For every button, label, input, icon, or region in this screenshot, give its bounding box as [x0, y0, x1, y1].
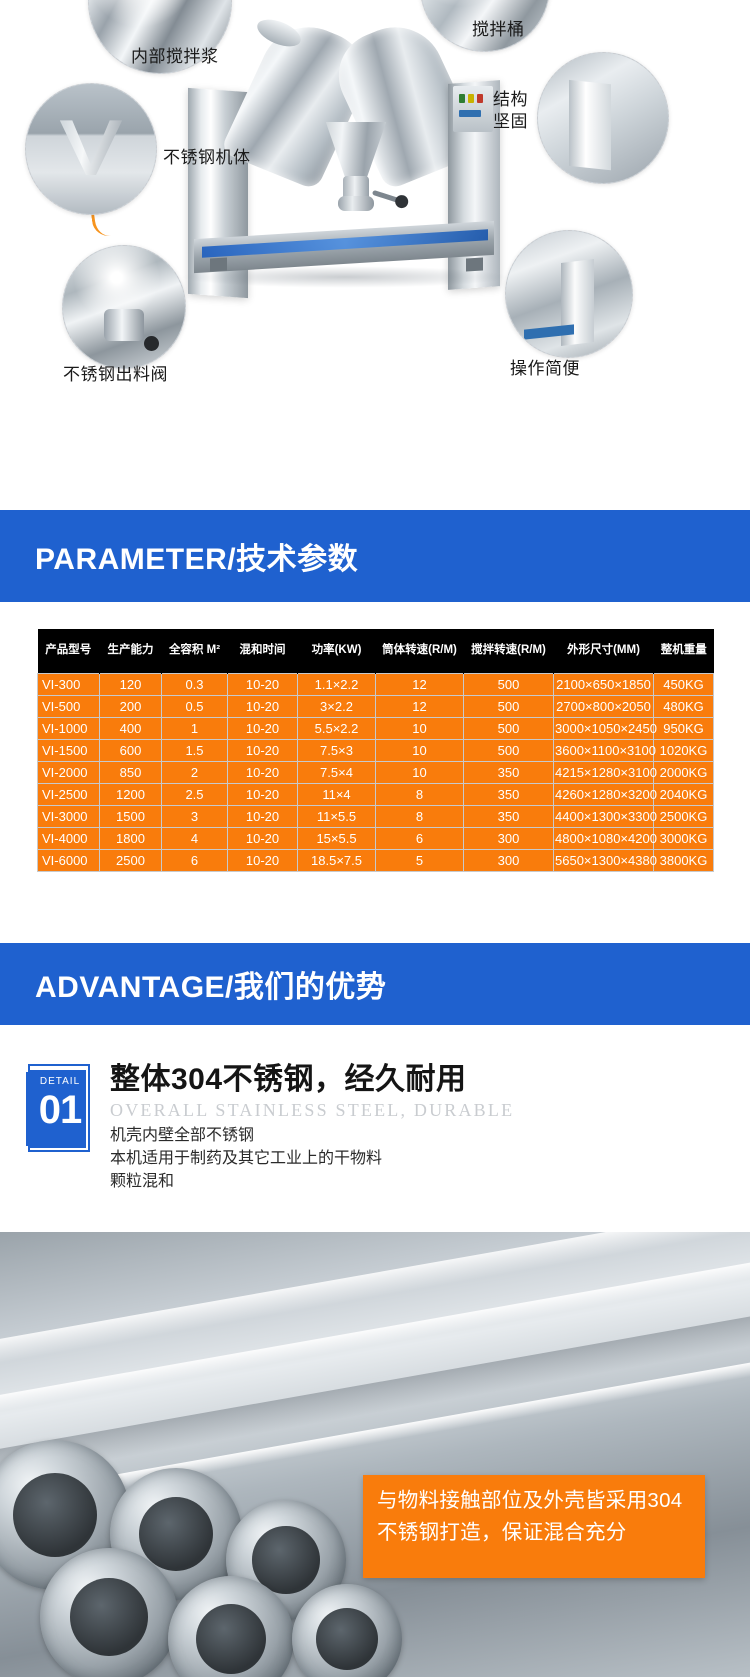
spec-cell: 8 — [376, 806, 464, 828]
spec-cell: 480KG — [654, 696, 714, 718]
spec-cell: VI-500 — [38, 696, 100, 718]
spec-cell: 4800×1080×4200 — [554, 828, 654, 850]
spec-cell: 15×5.5 — [298, 828, 376, 850]
spec-cell: 10 — [376, 740, 464, 762]
spec-cell: 3 — [162, 806, 228, 828]
detail-line-1: 机壳内壁全部不锈钢 — [110, 1125, 710, 1148]
spec-cell: 350 — [464, 784, 554, 806]
spec-cell: 10-20 — [228, 784, 298, 806]
sturdy-structure-column — [569, 79, 611, 169]
indicator-red — [477, 94, 483, 103]
spec-cell: 10-20 — [228, 850, 298, 872]
spec-cell: VI-2500 — [38, 784, 100, 806]
table-row: VI-5002000.510-203×2.2125002700×800×2050… — [38, 696, 714, 718]
section-title-parameter: PARAMETER/技术参数 — [35, 534, 358, 578]
spec-cell: 10-20 — [228, 806, 298, 828]
callout-photo-sturdy-structure — [537, 52, 669, 184]
spec-cell: 10 — [376, 762, 464, 784]
section-banner-parameter: PARAMETER/技术参数 — [0, 510, 750, 602]
spec-cell: 18.5×7.5 — [298, 850, 376, 872]
detail-block-01: DETAIL 01 整体304不锈钢，经久耐用 OVERALL STAINLES… — [0, 1040, 750, 1240]
table-row: VI-40001800410-2015×5.563004800×1080×420… — [38, 828, 714, 850]
spec-cell: 10-20 — [228, 762, 298, 784]
spec-cell: 3×2.2 — [298, 696, 376, 718]
spec-cell: 500 — [464, 696, 554, 718]
hero-label-mixing-barrel: 搅拌桶 — [472, 19, 525, 41]
spec-cell: 850 — [100, 762, 162, 784]
spec-header-mixing-time: 混和时间 — [228, 629, 298, 674]
spec-cell: 0.3 — [162, 674, 228, 696]
spec-cell: 6 — [376, 828, 464, 850]
detail-line-3: 颗粒混和 — [110, 1171, 710, 1194]
spec-header-volume: 全容积 M² — [162, 629, 228, 674]
spec-cell: 2000KG — [654, 762, 714, 784]
spec-cell: 350 — [464, 806, 554, 828]
discharge-valve-knob — [144, 336, 159, 351]
spec-cell: 1 — [162, 718, 228, 740]
spec-cell: 2040KG — [654, 784, 714, 806]
spec-cell: 200 — [100, 696, 162, 718]
spec-header-weight: 整机重量 — [654, 629, 714, 674]
spec-cell: 500 — [464, 740, 554, 762]
callout-photo-easy-operation — [505, 230, 633, 358]
callout-box-stainless-steel: 与物料接触部位及外壳皆采用304不锈钢打造，保证混合充分 — [363, 1475, 705, 1578]
table-row: VI-60002500610-2018.5×7.553005650×1300×4… — [38, 850, 714, 872]
pipe-end-6 — [292, 1584, 402, 1677]
spec-header-barrel-speed: 筒体转速(R/M) — [376, 629, 464, 674]
spec-cell: 1800 — [100, 828, 162, 850]
spec-cell: 10-20 — [228, 696, 298, 718]
spec-cell: 5.5×2.2 — [298, 718, 376, 740]
spec-cell: 4 — [162, 828, 228, 850]
detail-badge-01: DETAIL 01 — [30, 1070, 86, 1148]
spec-cell: 12 — [376, 674, 464, 696]
v-tank-discharge-spout — [343, 176, 369, 204]
product-hero-collage: 内部搅拌浆 不锈钢机体 不锈钢出料阀 搅拌桶 结构 坚固 操作简便 — [0, 0, 750, 470]
spec-table: 产品型号 生产能力 全容积 M² 混和时间 功率(KW) 筒体转速(R/M) 搅… — [37, 629, 714, 872]
v-tank-valve-handle — [372, 190, 400, 203]
callout-text: 与物料接触部位及外壳皆采用304不锈钢打造，保证混合充分 — [363, 1475, 705, 1550]
spec-cell: 600 — [100, 740, 162, 762]
spec-cell: VI-6000 — [38, 850, 100, 872]
spec-cell: 4215×1280×3100 — [554, 762, 654, 784]
spec-table-header-row: 产品型号 生产能力 全容积 M² 混和时间 功率(KW) 筒体转速(R/M) 搅… — [38, 629, 714, 674]
spec-cell: 2100×650×1850 — [554, 674, 654, 696]
panel-display — [459, 110, 481, 117]
table-row: VI-2000850210-207.5×4103504215×1280×3100… — [38, 762, 714, 784]
spec-cell: 10-20 — [228, 828, 298, 850]
spec-cell: 2 — [162, 762, 228, 784]
machine-control-panel — [453, 86, 493, 132]
detail-badge-number: 01 — [34, 1090, 86, 1130]
pipe-end-4 — [40, 1548, 178, 1677]
spec-header-mixing-speed: 搅拌转速(R/M) — [464, 629, 554, 674]
callout-photo-stainless-body — [25, 83, 157, 215]
spec-table-body: VI-3001200.310-201.1×2.2125002100×650×18… — [38, 674, 714, 872]
spec-cell: 3800KG — [654, 850, 714, 872]
spec-cell: 11×5.5 — [298, 806, 376, 828]
spec-cell: 11×4 — [298, 784, 376, 806]
table-row: VI-1000400110-205.5×2.2105003000×1050×24… — [38, 718, 714, 740]
hero-label-sturdy-structure: 结构 坚固 — [493, 89, 528, 133]
spec-cell: VI-300 — [38, 674, 100, 696]
spec-cell: 0.5 — [162, 696, 228, 718]
spec-cell: 500 — [464, 674, 554, 696]
spec-header-power: 功率(KW) — [298, 629, 376, 674]
spec-cell: 350 — [464, 762, 554, 784]
indicator-green — [459, 94, 465, 103]
spec-cell: 10-20 — [228, 740, 298, 762]
spec-cell: 7.5×3 — [298, 740, 376, 762]
hero-label-inner-mixer-blade: 内部搅拌浆 — [131, 46, 219, 68]
spec-cell: 2500KG — [654, 806, 714, 828]
spec-cell: 450KG — [654, 674, 714, 696]
callout-photo-discharge-valve — [62, 245, 186, 369]
spec-cell: VI-3000 — [38, 806, 100, 828]
spec-cell: VI-4000 — [38, 828, 100, 850]
spec-cell: 2500 — [100, 850, 162, 872]
spec-cell: VI-1000 — [38, 718, 100, 740]
spec-cell: 12 — [376, 696, 464, 718]
spec-header-capacity: 生产能力 — [100, 629, 162, 674]
spec-cell: 3000×1050×2450 — [554, 718, 654, 740]
spec-cell: 2.5 — [162, 784, 228, 806]
detail-subtitle: OVERALL STAINLESS STEEL, DURABLE — [110, 1100, 710, 1121]
spec-cell: VI-2000 — [38, 762, 100, 784]
stainless-body-image — [26, 84, 156, 214]
spec-cell: 300 — [464, 828, 554, 850]
spec-cell: 5 — [376, 850, 464, 872]
section-title-advantage: ADVANTAGE/我们的优势 — [35, 962, 386, 1006]
spec-cell: VI-1500 — [38, 740, 100, 762]
discharge-valve-body — [104, 309, 143, 341]
spec-header-dimensions: 外形尺寸(MM) — [554, 629, 654, 674]
spec-cell: 3000KG — [654, 828, 714, 850]
spec-header-model: 产品型号 — [38, 629, 100, 674]
table-row: VI-3001200.310-201.1×2.2125002100×650×18… — [38, 674, 714, 696]
table-row: VI-15006001.510-207.5×3105003600×1100×31… — [38, 740, 714, 762]
spec-cell: 10-20 — [228, 718, 298, 740]
spec-cell: 7.5×4 — [298, 762, 376, 784]
spec-cell: 10-20 — [228, 674, 298, 696]
detail-line-2: 本机适用于制药及其它工业上的干物料 — [110, 1148, 710, 1171]
spec-cell: 8 — [376, 784, 464, 806]
table-row: VI-30001500310-2011×5.583504400×1300×330… — [38, 806, 714, 828]
detail-title: 整体304不锈钢，经久耐用 — [110, 1062, 710, 1097]
spec-cell: 4260×1280×3200 — [554, 784, 654, 806]
spec-cell: 1.1×2.2 — [298, 674, 376, 696]
steel-pipes-photo — [0, 1232, 750, 1677]
spec-cell: 1020KG — [654, 740, 714, 762]
spec-cell: 5650×1300×4380 — [554, 850, 654, 872]
spec-cell: 120 — [100, 674, 162, 696]
hero-label-stainless-body: 不锈钢机体 — [163, 147, 251, 169]
spec-cell: 500 — [464, 718, 554, 740]
spec-cell: 400 — [100, 718, 162, 740]
discharge-valve-image — [63, 246, 185, 368]
spec-cell: 3600×1100×3100 — [554, 740, 654, 762]
spec-cell: 1500 — [100, 806, 162, 828]
spec-table-wrapper: 产品型号 生产能力 全容积 M² 混和时间 功率(KW) 筒体转速(R/M) 搅… — [37, 629, 713, 872]
table-row: VI-250012002.510-2011×483504260×1280×320… — [38, 784, 714, 806]
spec-cell: 1.5 — [162, 740, 228, 762]
detail-badge-label: DETAIL — [34, 1076, 86, 1087]
detail-text-body: 整体304不锈钢，经久耐用 OVERALL STAINLESS STEEL, D… — [110, 1062, 710, 1194]
spec-cell: 1200 — [100, 784, 162, 806]
spec-cell: 4400×1300×3300 — [554, 806, 654, 828]
indicator-yellow — [468, 94, 474, 103]
section-banner-advantage: ADVANTAGE/我们的优势 — [0, 943, 750, 1025]
machine-ground-shadow — [180, 266, 510, 288]
spec-cell: 2700×800×2050 — [554, 696, 654, 718]
spec-cell: 6 — [162, 850, 228, 872]
hero-label-stainless-discharge-valve: 不锈钢出料阀 — [63, 364, 168, 386]
spec-cell: 300 — [464, 850, 554, 872]
spec-cell: 10 — [376, 718, 464, 740]
spec-cell: 950KG — [654, 718, 714, 740]
hero-label-easy-operation: 操作简便 — [510, 358, 580, 380]
